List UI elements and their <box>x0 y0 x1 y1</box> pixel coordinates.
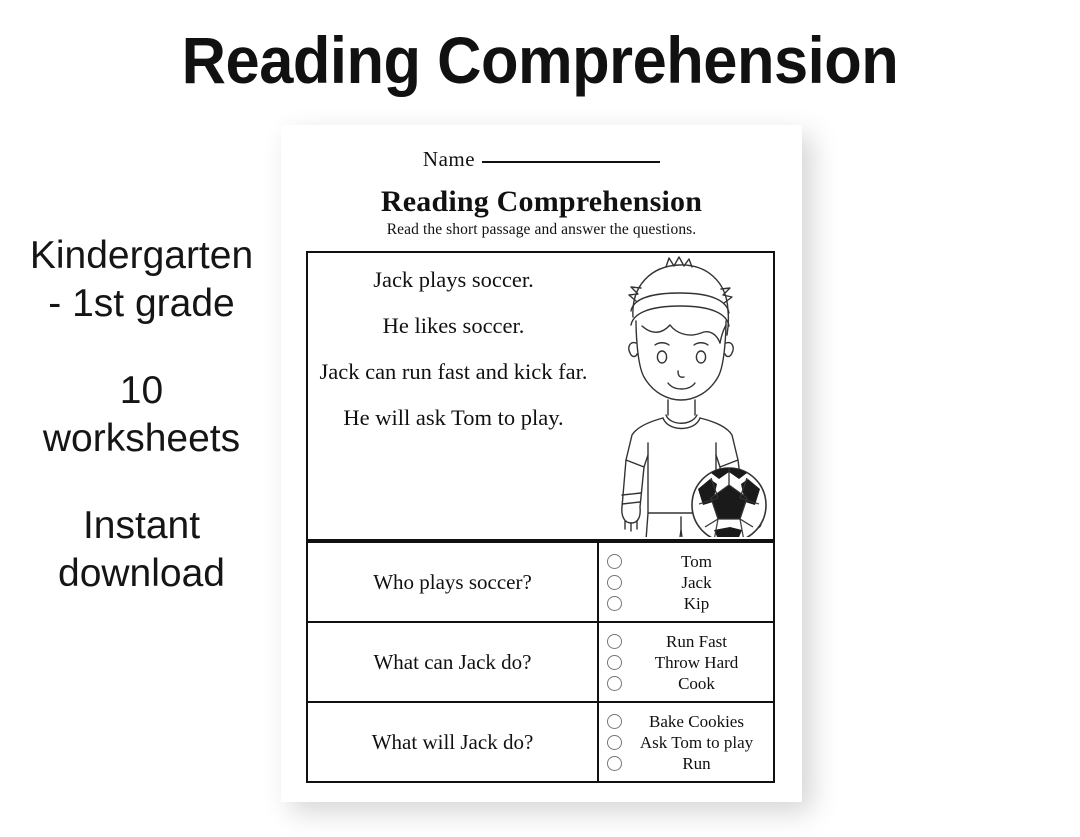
answer-options: Run FastThrow HardCook <box>599 623 773 701</box>
radio-circle-icon[interactable] <box>607 596 622 611</box>
radio-circle-icon[interactable] <box>607 634 622 649</box>
answer-option[interactable]: Run <box>607 753 767 774</box>
answer-label: Kip <box>626 595 767 612</box>
passage-box: Jack plays soccer.He likes soccer.Jack c… <box>306 251 775 541</box>
illustration-area <box>599 253 773 539</box>
name-blank-line <box>482 161 660 163</box>
info-column: Kindergarten- 1st grade10worksheetsInsta… <box>0 232 283 597</box>
answer-label: Ask Tom to play <box>626 734 767 751</box>
answer-options: Bake CookiesAsk Tom to playRun <box>599 703 773 781</box>
radio-circle-icon[interactable] <box>607 735 622 750</box>
radio-circle-icon[interactable] <box>607 575 622 590</box>
info-line: - 1st grade <box>0 280 283 328</box>
answer-label: Throw Hard <box>626 654 767 671</box>
answer-option[interactable]: Run Fast <box>607 631 767 652</box>
worksheet-subtitle: Read the short passage and answer the qu… <box>281 221 802 239</box>
passage-text: Jack plays soccer.He likes soccer.Jack c… <box>308 253 599 539</box>
questions-table: Who plays soccer?TomJackKipWhat can Jack… <box>306 541 775 783</box>
info-line: Kindergarten <box>0 232 283 280</box>
passage-line: He likes soccer. <box>316 313 591 339</box>
page-title: Reading Comprehension <box>38 22 1042 98</box>
answer-option[interactable]: Bake Cookies <box>607 711 767 732</box>
answer-option[interactable]: Ask Tom to play <box>607 732 767 753</box>
question-row: Who plays soccer?TomJackKip <box>308 541 773 621</box>
worksheet-page-preview: Name Reading Comprehension Read the shor… <box>281 125 802 802</box>
answer-label: Bake Cookies <box>626 713 767 730</box>
radio-circle-icon[interactable] <box>607 554 622 569</box>
info-block-1: 10worksheets <box>0 367 283 462</box>
info-line: download <box>0 550 283 598</box>
info-line: 10 <box>0 367 283 415</box>
answer-option[interactable]: Kip <box>607 593 767 614</box>
soccer-ball-icon <box>692 460 766 537</box>
worksheet-title: Reading Comprehension <box>281 185 802 219</box>
answer-label: Jack <box>626 574 767 591</box>
boy-soccer-player-icon <box>600 255 772 537</box>
name-label: Name <box>423 147 475 171</box>
info-line: Instant <box>0 502 283 550</box>
answer-label: Run Fast <box>626 633 767 650</box>
question-text: Who plays soccer? <box>308 543 599 621</box>
question-text: What will Jack do? <box>308 703 599 781</box>
radio-circle-icon[interactable] <box>607 655 622 670</box>
answer-option[interactable]: Cook <box>607 673 767 694</box>
question-row: What can Jack do?Run FastThrow HardCook <box>308 621 773 701</box>
passage-line: Jack can run fast and kick far. <box>316 359 591 385</box>
answer-label: Run <box>626 755 767 772</box>
radio-circle-icon[interactable] <box>607 676 622 691</box>
info-block-2: Instantdownload <box>0 502 283 597</box>
radio-circle-icon[interactable] <box>607 756 622 771</box>
answer-option[interactable]: Jack <box>607 572 767 593</box>
info-line: worksheets <box>0 415 283 463</box>
answer-label: Tom <box>626 553 767 570</box>
passage-line: Jack plays soccer. <box>316 267 591 293</box>
question-row: What will Jack do?Bake CookiesAsk Tom to… <box>308 701 773 781</box>
passage-line: He will ask Tom to play. <box>316 405 591 431</box>
answer-option[interactable]: Throw Hard <box>607 652 767 673</box>
answer-label: Cook <box>626 675 767 692</box>
name-field-row: Name <box>281 147 802 172</box>
answer-options: TomJackKip <box>599 543 773 621</box>
question-text: What can Jack do? <box>308 623 599 701</box>
answer-option[interactable]: Tom <box>607 551 767 572</box>
info-block-0: Kindergarten- 1st grade <box>0 232 283 327</box>
radio-circle-icon[interactable] <box>607 714 622 729</box>
